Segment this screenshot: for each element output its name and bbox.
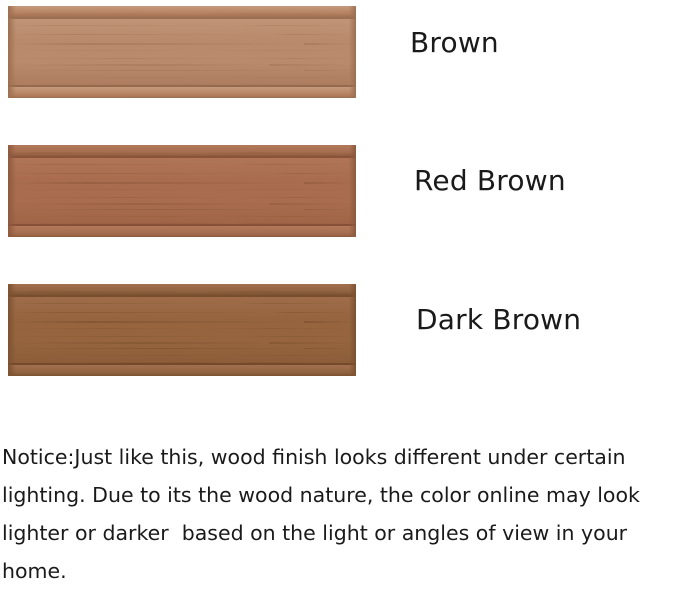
wood-grain-streak: [8, 336, 356, 337]
wood-grain-streak: [8, 182, 356, 184]
plank-bottom-rail: [8, 365, 356, 376]
wood-grain-streak: [8, 70, 356, 71]
swatch-label-dark-brown: Dark Brown: [416, 303, 581, 336]
wood-grain-streak: [8, 164, 356, 165]
swatch-label-brown: Brown: [410, 26, 499, 59]
wood-grain-streak: [8, 342, 356, 344]
wood-grain-streak: [8, 84, 356, 86]
wood-grain-streak: [8, 328, 356, 329]
wood-grain-streak: [8, 197, 356, 198]
plank-top-groove: [8, 17, 356, 19]
wood-grain-streak: [8, 152, 356, 154]
plank-bottom-rail: [8, 226, 356, 237]
wood-grain-streak: [8, 173, 356, 174]
notice-text: Notice:Just like this, wood finish looks…: [2, 438, 678, 590]
wood-grain-streak: [8, 189, 356, 190]
wood-grain-streak: [8, 348, 356, 349]
swatch-row: Brown: [0, 6, 679, 98]
wood-grain-streak: [8, 209, 356, 210]
wood-plank-graphic: [8, 145, 356, 237]
wood-grain-streak: [8, 223, 356, 225]
wood-finish-comparison-image: Brown Red Brown: [0, 0, 679, 551]
wood-grain-streak: [8, 312, 356, 313]
wood-grain-streak: [8, 43, 356, 45]
wood-grain-streak: [8, 216, 356, 217]
wood-grain-streak: [8, 58, 356, 59]
wood-grain-streak: [8, 34, 356, 35]
plank-bottom-rail: [8, 87, 356, 98]
wood-grain-streak: [8, 25, 356, 26]
wood-swatch-red-brown: [8, 145, 356, 237]
wood-grain-streak: [8, 13, 356, 15]
wood-grain-streak: [8, 77, 356, 78]
wood-grain-streak: [8, 203, 356, 205]
wood-plank-graphic: [8, 6, 356, 98]
wood-swatch-dark-brown: [8, 284, 356, 376]
wood-plank-graphic: [8, 284, 356, 376]
swatch-row: Dark Brown: [0, 284, 679, 376]
swatch-label-red-brown: Red Brown: [414, 164, 566, 197]
wood-grain-streak: [8, 321, 356, 323]
wood-grain-streak: [8, 303, 356, 304]
wood-grain-streak: [8, 291, 356, 293]
plank-top-rail: [8, 145, 356, 156]
swatch-row: Red Brown: [0, 145, 679, 237]
wood-grain-streak: [8, 64, 356, 66]
plank-top-groove: [8, 156, 356, 158]
wood-grain-streak: [8, 50, 356, 51]
plank-top-rail: [8, 6, 356, 17]
wood-grain-streak: [8, 355, 356, 356]
wood-grain-streak: [8, 362, 356, 364]
wood-swatch-brown: [8, 6, 356, 98]
plank-top-rail: [8, 284, 356, 295]
plank-top-groove: [8, 295, 356, 297]
